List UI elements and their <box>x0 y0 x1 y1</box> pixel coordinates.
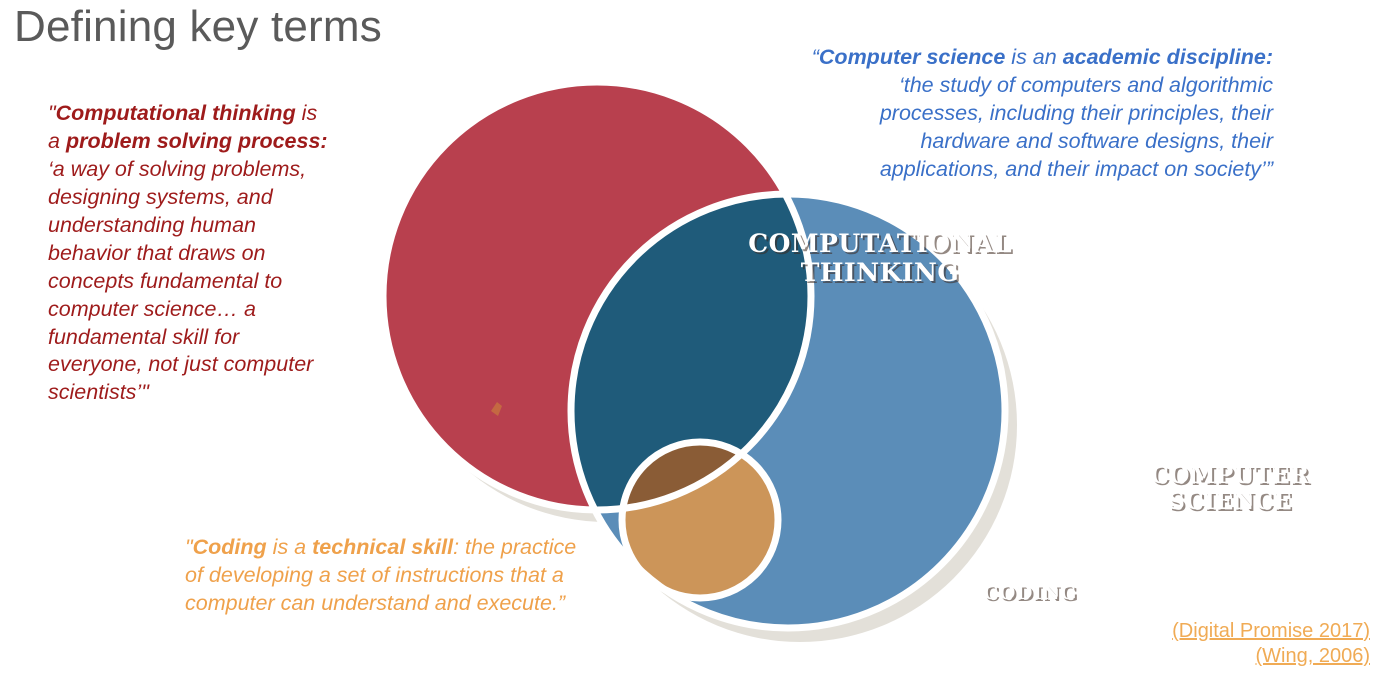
venn-label-computer-science: COMPUTER SCIENCE <box>1115 463 1345 515</box>
venn-label-cs-line2: SCIENCE <box>1115 489 1345 515</box>
quote-cs-mid: is an <box>1005 45 1062 69</box>
citations: (Digital Promise 2017) (Wing, 2006) <box>1172 619 1370 670</box>
quote-computational-thinking: "Computational thinking is a problem sol… <box>48 100 328 407</box>
quote-cs-body: ‘the study of computers and algorithmic … <box>880 73 1273 181</box>
quote-ct-body: ‘a way of solving problems, designing sy… <box>48 157 313 405</box>
quote-cs-category: academic discipline: <box>1063 45 1273 69</box>
citation-link-wing[interactable]: (Wing, 2006) <box>1172 644 1370 670</box>
quote-coding-category: technical skill <box>312 535 453 559</box>
quote-computer-science: “Computer science is an academic discipl… <box>808 44 1273 184</box>
quote-cs-term: Computer science <box>819 45 1005 69</box>
quote-coding-openquote: " <box>185 535 193 559</box>
page-title: Defining key terms <box>14 2 382 52</box>
quote-ct-term: Computational thinking <box>56 101 296 125</box>
quote-coding-mid: is a <box>267 535 312 559</box>
quote-ct-openquote: " <box>48 101 56 125</box>
quote-coding: "Coding is a technical skill: the practi… <box>185 534 585 618</box>
venn-label-cs-line1: COMPUTER <box>1115 463 1345 489</box>
quote-cs-openquote: “ <box>812 45 819 69</box>
quote-ct-category: problem solving process: <box>66 129 328 153</box>
quote-coding-term: Coding <box>193 535 267 559</box>
citation-link-digital-promise[interactable]: (Digital Promise 2017) <box>1172 619 1370 645</box>
